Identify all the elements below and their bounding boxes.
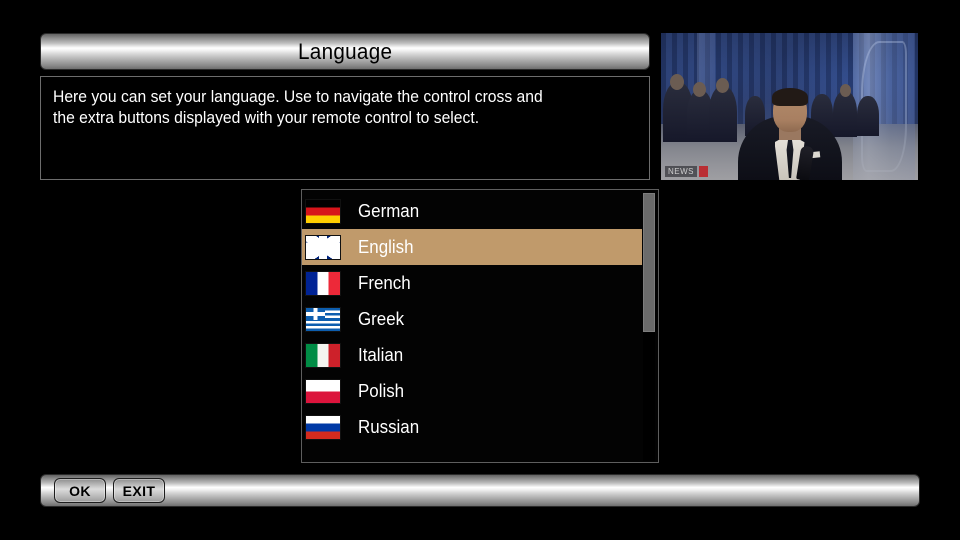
list-item[interactable]: Greek bbox=[302, 301, 642, 337]
list-item[interactable]: Russian bbox=[302, 409, 642, 445]
softkey-bar: OK EXIT bbox=[40, 474, 920, 507]
flag-germany bbox=[305, 199, 341, 224]
language-label: Polish bbox=[358, 381, 404, 402]
exit-button[interactable]: EXIT bbox=[113, 478, 165, 503]
help-description-panel: Here you can set your language. Use to n… bbox=[40, 76, 650, 180]
language-label: German bbox=[358, 201, 419, 222]
page-title: Language bbox=[298, 39, 392, 65]
list-item[interactable]: Italian bbox=[302, 337, 642, 373]
ok-button[interactable]: OK bbox=[54, 478, 106, 503]
flag-russia bbox=[305, 415, 341, 440]
video-crowd-head bbox=[693, 82, 706, 97]
language-label: Greek bbox=[358, 309, 404, 330]
video-crowd-figure bbox=[857, 96, 879, 136]
scrollbar-track[interactable] bbox=[643, 193, 655, 461]
tv-settings-screen: Language Here you can set your language.… bbox=[0, 0, 960, 540]
flag-poland bbox=[305, 379, 341, 404]
reporter-hair bbox=[772, 88, 808, 106]
help-description-text: Here you can set your language. Use to n… bbox=[53, 87, 608, 129]
video-crowd-figure bbox=[709, 86, 737, 142]
scrollbar-thumb[interactable] bbox=[643, 193, 655, 332]
language-label: Russian bbox=[358, 417, 419, 438]
channel-logo-mark bbox=[699, 166, 708, 177]
flag-greece bbox=[305, 307, 341, 332]
language-label: French bbox=[358, 273, 411, 294]
flag-france bbox=[305, 271, 341, 296]
video-crowd-head bbox=[716, 78, 729, 93]
video-crowd-figure bbox=[833, 91, 857, 137]
list-item[interactable]: English bbox=[302, 229, 642, 265]
video-crowd-head bbox=[670, 74, 684, 90]
channel-logo-bug: NEWS bbox=[665, 166, 708, 177]
language-label: Italian bbox=[358, 345, 403, 366]
language-label: English bbox=[358, 237, 414, 258]
live-video-preview[interactable]: NEWS bbox=[661, 33, 918, 180]
list-item[interactable]: French bbox=[302, 265, 642, 301]
flag-italy bbox=[305, 343, 341, 368]
title-bar: Language bbox=[40, 33, 650, 70]
channel-logo-text: NEWS bbox=[665, 166, 697, 177]
list-item[interactable]: Polish bbox=[302, 373, 642, 409]
language-list: German English French Greek Italian Poli bbox=[302, 193, 642, 445]
flag-united-kingdom bbox=[305, 235, 341, 260]
list-item[interactable]: German bbox=[302, 193, 642, 229]
language-list-panel: German English French Greek Italian Poli bbox=[301, 189, 659, 463]
